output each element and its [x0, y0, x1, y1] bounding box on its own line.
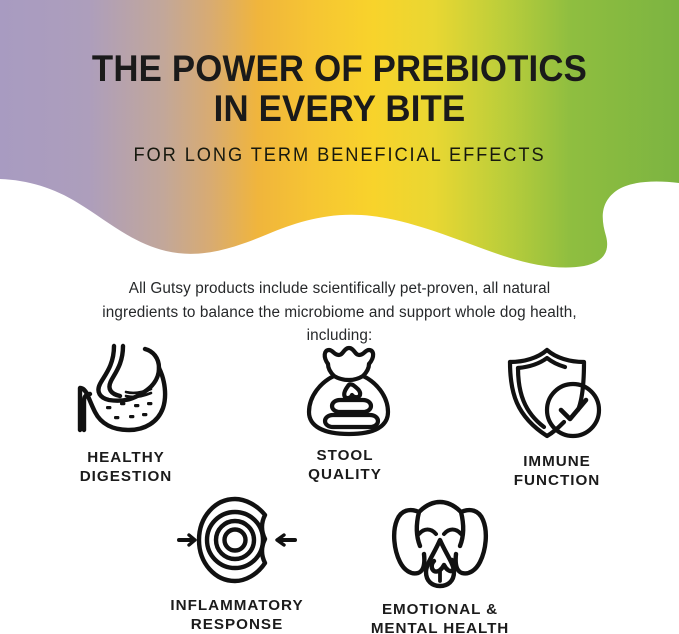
dog-face-icon	[355, 488, 525, 600]
feature-emotional-mental-health: EMOTIONAL & MENTAL HEALTH	[355, 488, 525, 634]
concentric-rings-arrows-icon	[152, 484, 322, 596]
feature-healthy-digestion: HEALTHY DIGESTION	[40, 336, 210, 487]
promo-banner: THE POWER OF PREBIOTICSIN EVERY BITE FOR…	[0, 0, 679, 634]
feature-grid: HEALTHY DIGESTION STOOL QUALITY	[0, 336, 679, 634]
feature-label: INFLAMMATORY RESPONSE	[152, 596, 322, 634]
feature-label: HEALTHY DIGESTION	[40, 448, 210, 487]
feature-immune-function: IMMUNE FUNCTION	[469, 340, 639, 491]
feature-stool-quality: STOOL QUALITY	[260, 334, 430, 485]
shield-check-icon	[469, 340, 639, 452]
feature-label: STOOL QUALITY	[260, 446, 430, 485]
waste-bag-icon	[260, 334, 430, 446]
hero-gradient-banner	[0, 0, 679, 275]
feature-label: EMOTIONAL & MENTAL HEALTH	[355, 600, 525, 634]
feature-label: IMMUNE FUNCTION	[469, 452, 639, 491]
feature-inflammatory-response: INFLAMMATORY RESPONSE	[152, 484, 322, 634]
stomach-icon	[40, 336, 210, 448]
